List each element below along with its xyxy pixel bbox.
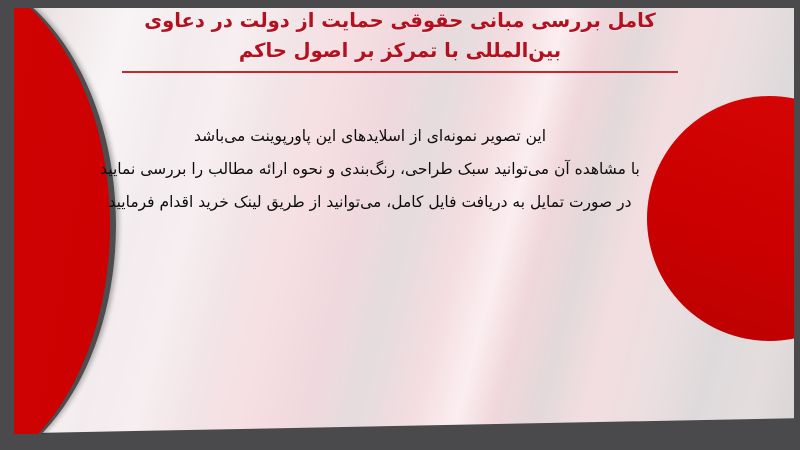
presentation-slide: کامل بررسی مبانی حقوقی حمایت از دولت در …	[0, 0, 800, 450]
body-line-1: این تصویر نمونه‌ای از اسلایدهای این پاور…	[90, 120, 650, 153]
title-underline-rule	[122, 71, 678, 73]
slide-body-text: این تصویر نمونه‌ای از اسلایدهای این پاور…	[90, 120, 650, 219]
body-line-2: با مشاهده آن می‌توانید سبک طراحی، رنگ‌بن…	[90, 153, 650, 186]
title-line-1: کامل بررسی مبانی حقوقی حمایت از دولت در …	[110, 6, 690, 36]
slide-title: کامل بررسی مبانی حقوقی حمایت از دولت در …	[110, 6, 690, 73]
slide-frame-bottom-edge	[0, 434, 800, 450]
title-line-2: بین‌المللی با تمرکز بر اصول حاکم	[110, 36, 690, 66]
left-frame-edge	[0, 0, 14, 450]
slide-frame-right-edge	[794, 0, 800, 450]
body-line-3: در صورت تمایل به دریافت فایل کامل، می‌تو…	[90, 186, 650, 219]
